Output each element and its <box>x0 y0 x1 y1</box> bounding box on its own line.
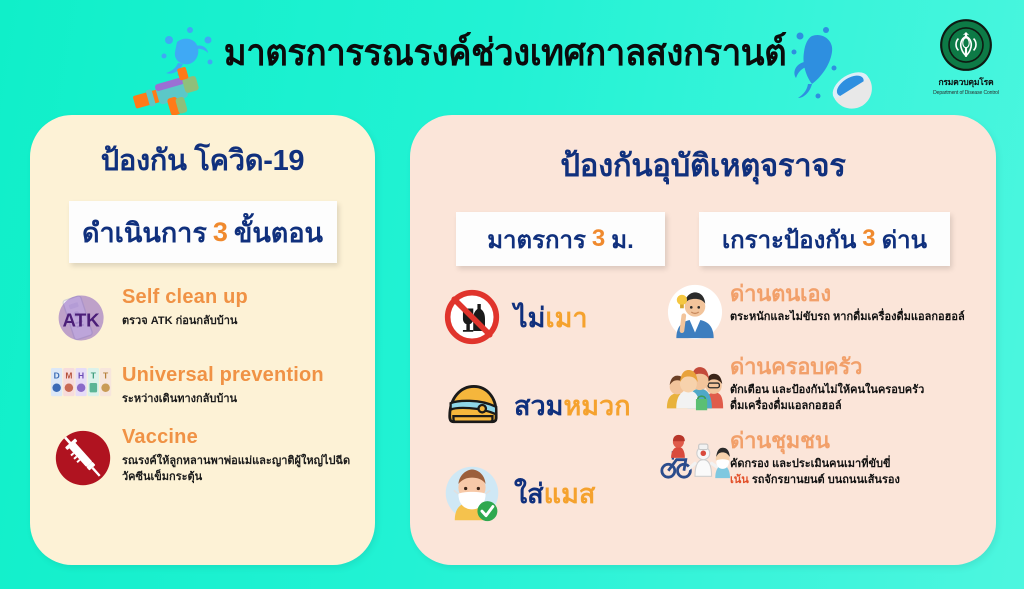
list-item: D M H T T <box>46 363 365 407</box>
list-item-body: Vaccine รณรงค์ให้ลูกหลานพาพ่อแม่และญาติผ… <box>120 425 365 485</box>
list-item: ไม่เมา <box>436 280 656 354</box>
svg-text:T: T <box>91 370 97 380</box>
family-group-icon <box>660 353 730 411</box>
list-item-desc: รณรงค์ให้ลูกหลานพาพ่อแม่และญาติผู้ใหญ่ไป… <box>122 453 365 485</box>
atk-test-kit-icon: ATK <box>46 285 120 345</box>
list-item-label: ไม่เมา <box>508 296 588 339</box>
chip-post-text: ม. <box>611 220 634 259</box>
community-checkpoint-icon <box>660 427 730 481</box>
chip-pre-text: ดำเนินการ <box>82 211 207 254</box>
chip-number: 3 <box>213 217 228 248</box>
water-bowl-splash-icon <box>782 22 890 118</box>
list-item-title: Self clean up <box>122 285 365 309</box>
list-item-label: ใส่แมส <box>508 472 595 515</box>
svg-text:D: D <box>54 370 60 380</box>
poster-header: มาตรการรณรงค์ช่วงเทศกาลสงกรานต์ <box>0 0 1024 112</box>
list-item: ATK Self clean up ตรวจ ATK ก่อนกลับบ้าน <box>46 285 365 345</box>
svg-text:T: T <box>103 370 109 380</box>
list-item: ด่านครอบครัว ตักเตือน และป้องกันไม่ให้คน… <box>660 353 984 414</box>
desc-line-2: รถจักรยานยนต์ บนถนนเส้นรอง <box>749 474 900 486</box>
list-item-desc: ระหว่างเดินทางกลับบ้าน <box>122 391 365 407</box>
logo-name-th: กรมควบคุมโรค <box>930 75 1002 89</box>
right-panel-columns: ไม่เมา สวมหมวก <box>410 280 996 544</box>
list-item-title: ด่านชุมชน <box>730 427 984 454</box>
label-highlight: แมส <box>544 479 596 509</box>
barriers-3dan-chip: เกราะป้องกัน 3 ด่าน <box>699 212 950 266</box>
list-item-body: Self clean up ตรวจ ATK ก่อนกลับบ้าน <box>120 285 365 329</box>
list-item: ใส่แมส <box>436 456 656 530</box>
page-title: มาตรการรณรงค์ช่วงเทศกาลสงกรานต์ <box>223 29 787 77</box>
list-item-title: ด่านตนเอง <box>730 280 984 307</box>
svg-text:ATK: ATK <box>63 309 101 330</box>
label-plain: สวม <box>514 391 563 421</box>
chip-number: 3 <box>592 225 605 253</box>
list-item: Vaccine รณรงค์ให้ลูกหลานพาพ่อแม่และญาติผ… <box>46 425 365 487</box>
desc-line-1: คัดกรอง และประเมินคนเมาที่ขับขี่ <box>730 458 891 470</box>
desc-line-1: ตระหนักและไม่ขับรถ หากดื่มเครื่องดื่มแอล… <box>730 311 965 323</box>
barriers-column: ด่านตนเอง ตระหนักและไม่ขับรถ หากดื่มเครื… <box>656 280 996 544</box>
vaccine-syringe-icon <box>46 425 120 487</box>
chip-post-text: ด่าน <box>882 220 927 259</box>
list-item-desc: ตักเตือน และป้องกันไม่ให้คนในครอบครัว ดื… <box>730 382 984 414</box>
measures-3m-chip: มาตรการ 3 ม. <box>456 212 665 266</box>
right-panel-chips: มาตรการ 3 ม. เกราะป้องกัน 3 ด่าน <box>410 212 996 266</box>
list-item-title: Universal prevention <box>122 363 365 387</box>
list-item: สวมหมวก <box>436 368 656 442</box>
list-item-body: ด่านตนเอง ตระหนักและไม่ขับรถ หากดื่มเครื… <box>730 280 984 325</box>
covid-steps-list: ATK Self clean up ตรวจ ATK ก่อนกลับบ้าน … <box>30 285 375 487</box>
list-item: ด่านชุมชน คัดกรอง และประเมินคนเมาที่ขับข… <box>660 427 984 488</box>
left-panel-heading: ป้องกัน โควิด-19 <box>30 137 375 183</box>
left-panel-steps-chip: ดำเนินการ 3 ขั้นตอน <box>69 201 337 263</box>
list-item-body: Universal prevention ระหว่างเดินทางกลับบ… <box>120 363 365 407</box>
moph-logo: กรมควบคุมโรค Department of Disease Contr… <box>930 18 1002 96</box>
helmet-icon <box>436 379 508 431</box>
desc-line-1: ตักเตือน และป้องกันไม่ให้คนในครอบครัว <box>730 384 924 396</box>
list-item: ด่านตนเอง ตระหนักและไม่ขับรถ หากดื่มเครื… <box>660 280 984 340</box>
label-highlight: เมา <box>545 303 587 333</box>
label-highlight: หมวก <box>563 391 630 421</box>
chip-pre-text: มาตรการ <box>487 220 586 259</box>
chip-post-text: ขั้นตอน <box>234 211 323 254</box>
label-plain: ไม่ <box>514 303 545 333</box>
label-plain: ใส่ <box>514 479 544 509</box>
list-item-desc: ตระหนักและไม่ขับรถ หากดื่มเครื่องดื่มแอล… <box>730 309 984 325</box>
list-item-label: สวมหมวก <box>508 384 631 427</box>
right-panel-heading: ป้องกันอุบัติเหตุจราจร <box>410 140 996 190</box>
measures-column: ไม่เมา สวมหมวก <box>410 280 656 544</box>
covid-prevention-panel: ป้องกัน โควิด-19 ดำเนินการ 3 ขั้นตอน <box>30 115 375 565</box>
list-item-title: Vaccine <box>122 425 365 449</box>
list-item-body: ด่านครอบครัว ตักเตือน และป้องกันไม่ให้คน… <box>730 353 984 414</box>
list-item-title: ด่านครอบครัว <box>730 353 984 380</box>
svg-text:H: H <box>78 370 84 380</box>
svg-text:M: M <box>65 370 72 380</box>
desc-line-2: ดื่มเครื่องดื่มแอลกอฮอล์ <box>730 400 842 412</box>
list-item-desc: คัดกรอง และประเมินคนเมาที่ขับขี่ เน้น รถ… <box>730 456 984 488</box>
chip-number: 3 <box>862 225 875 253</box>
face-mask-person-icon <box>436 464 508 522</box>
logo-name-en: Department of Disease Control <box>930 90 1002 96</box>
dmhtt-cards-icon: D M H T T <box>46 363 120 399</box>
list-item-desc: ตรวจ ATK ก่อนกลับบ้าน <box>122 313 365 329</box>
self-awareness-person-icon <box>660 280 730 340</box>
list-item-body: ด่านชุมชน คัดกรอง และประเมินคนเมาที่ขับข… <box>730 427 984 488</box>
infographic-poster: มาตรการรณรงค์ช่วงเทศกาลสงกรานต์ <box>0 0 1024 589</box>
chip-pre-text: เกราะป้องกัน <box>722 220 856 259</box>
desc-accent: เน้น <box>730 474 749 486</box>
traffic-accident-prevention-panel: ป้องกันอุบัติเหตุจราจร มาตรการ 3 ม. เกรา… <box>410 115 996 565</box>
no-alcohol-icon <box>436 288 508 346</box>
ministry-of-public-health-seal-icon <box>939 18 993 72</box>
